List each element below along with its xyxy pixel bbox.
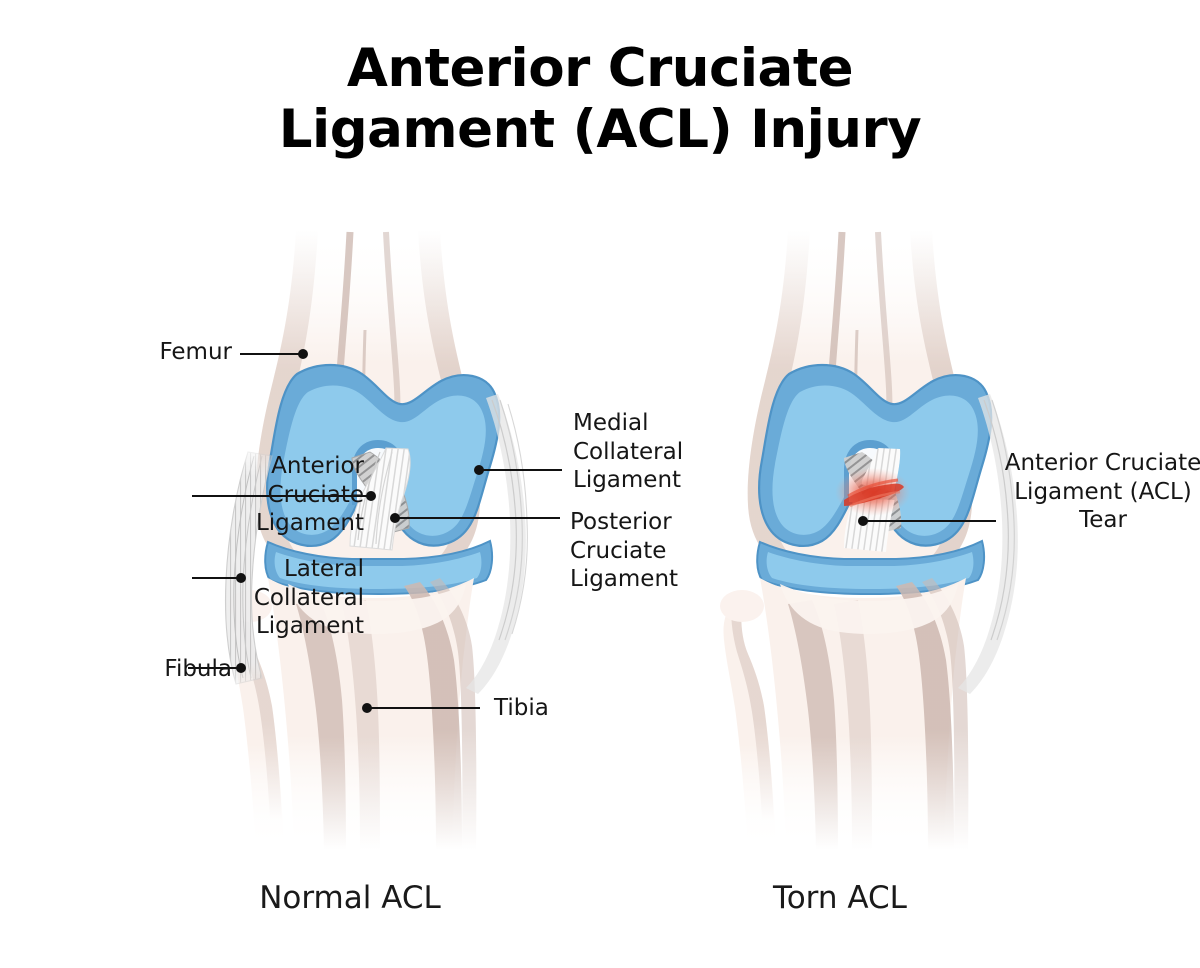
caption-torn-acl: Torn ACL [680, 880, 1000, 916]
label-anterior-cruciate-ligament: Anterior Cruciate Ligament [124, 452, 364, 538]
label-femur: Femur [0, 338, 232, 367]
acl-injury-diagram: Anterior Cruciate Ligament (ACL) Injury [0, 0, 1200, 968]
label-medial-collateral-ligament: Medial Collateral Ligament [573, 409, 803, 495]
knee-figure-normal [225, 230, 527, 850]
caption-normal-acl: Normal ACL [190, 880, 510, 916]
label-fibula: Fibula [0, 655, 232, 684]
label-tibia: Tibia [494, 694, 734, 723]
label-lateral-collateral-ligament: Lateral Collateral Ligament [124, 555, 364, 641]
label-acl-tear: Anterior Cruciate Ligament (ACL) Tear [1003, 449, 1200, 535]
tibia-bone-torn [760, 578, 968, 850]
label-posterior-cruciate-ligament: Posterior Cruciate Ligament [570, 508, 800, 594]
